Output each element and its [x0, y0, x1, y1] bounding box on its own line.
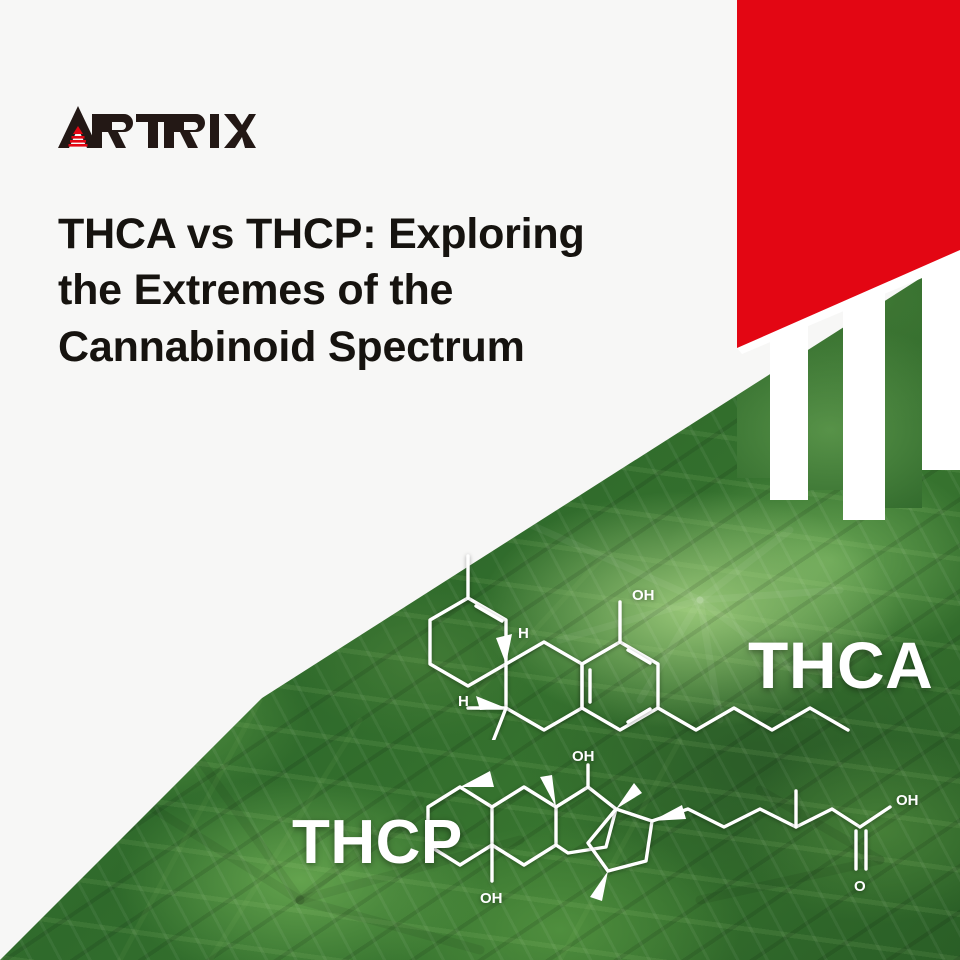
- thcp-label: THCP: [292, 812, 463, 874]
- headline-line-3: Cannabinoid Spectrum: [58, 319, 658, 375]
- thca-label: THCA: [748, 632, 933, 698]
- thcp-oh-label-bottom: OH: [480, 890, 503, 907]
- thca-h-label-left: H: [458, 693, 469, 710]
- brand-logo[interactable]: [56, 104, 256, 150]
- thca-h-label-top: H: [518, 625, 529, 642]
- thcp-molecule-diagram: OH OH OH O: [420, 735, 920, 935]
- thcp-oh-label-acid: OH: [896, 792, 919, 809]
- artrix-triangle-logo: [56, 104, 256, 150]
- poster-canvas: THCA vs THCP: Exploring the Extremes of …: [0, 0, 960, 960]
- thca-oh-label: OH: [632, 587, 655, 604]
- thcp-o-label: O: [854, 878, 866, 895]
- thcp-oh-label-top: OH: [572, 748, 595, 765]
- page-title: THCA vs THCP: Exploring the Extremes of …: [58, 206, 658, 375]
- headline-line-2: the Extremes of the: [58, 262, 658, 318]
- headline-line-1: THCA vs THCP: Exploring: [58, 206, 658, 262]
